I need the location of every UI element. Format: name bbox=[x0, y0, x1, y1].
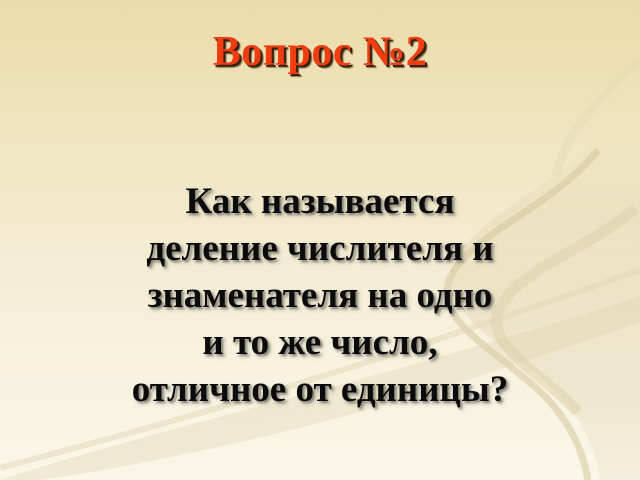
question-line: отличное от единицы? bbox=[0, 366, 640, 413]
question-line: знаменателя на одно bbox=[0, 272, 640, 319]
question-line: Как называется bbox=[0, 178, 640, 225]
question-line: деление числителя и bbox=[0, 225, 640, 272]
page-title: Вопрос №2 bbox=[213, 30, 427, 74]
title-block: Вопрос №2 bbox=[0, 30, 640, 74]
question-text-block: Как называется деление числителя и знаме… bbox=[0, 178, 640, 413]
question-line: и то же число, bbox=[0, 319, 640, 366]
slide-canvas: Вопрос №2 Как называется деление числите… bbox=[0, 0, 640, 480]
